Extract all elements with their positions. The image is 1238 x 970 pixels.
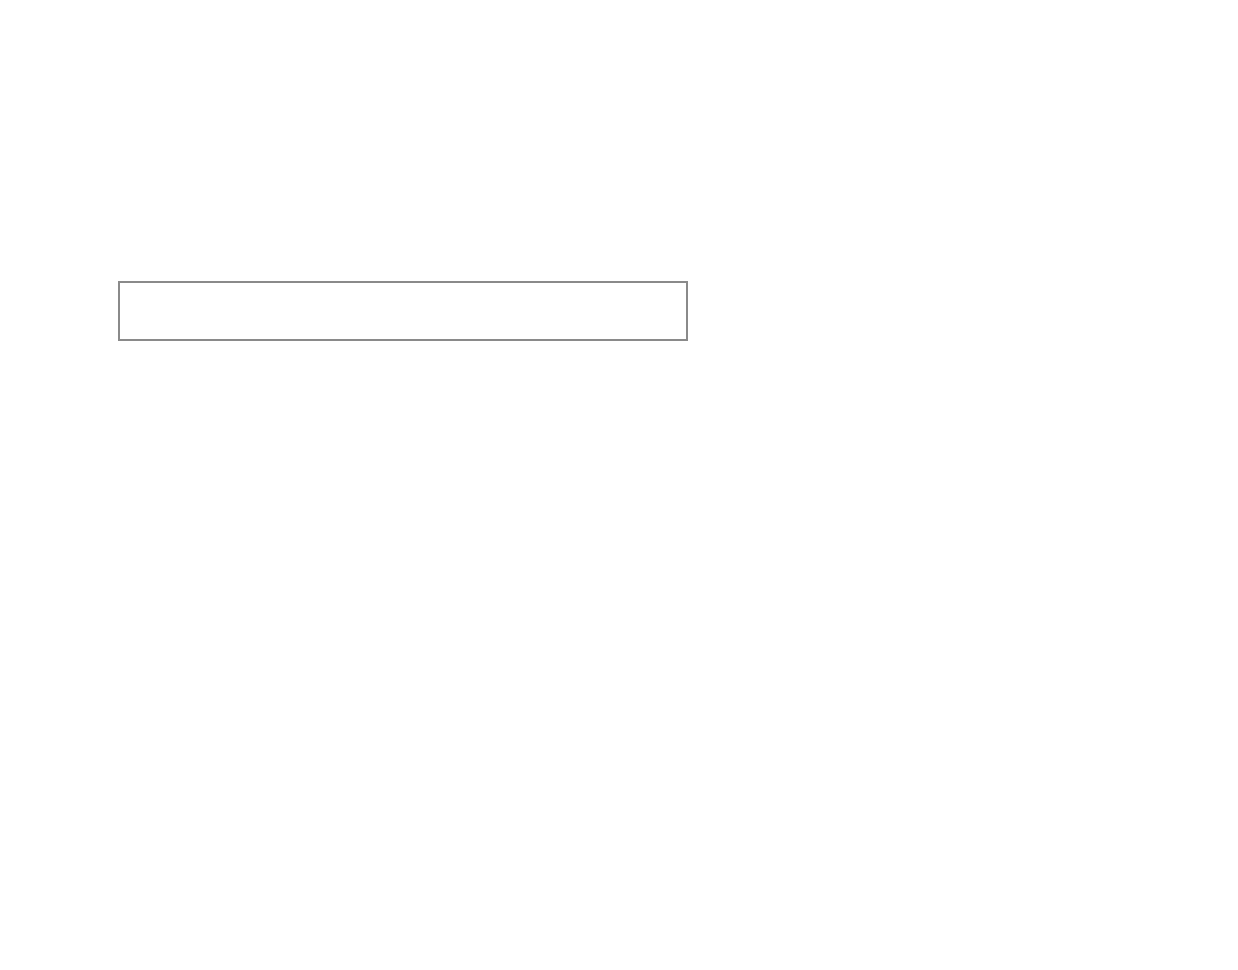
chart-page <box>0 0 1238 970</box>
plot-canvas <box>0 0 1238 970</box>
